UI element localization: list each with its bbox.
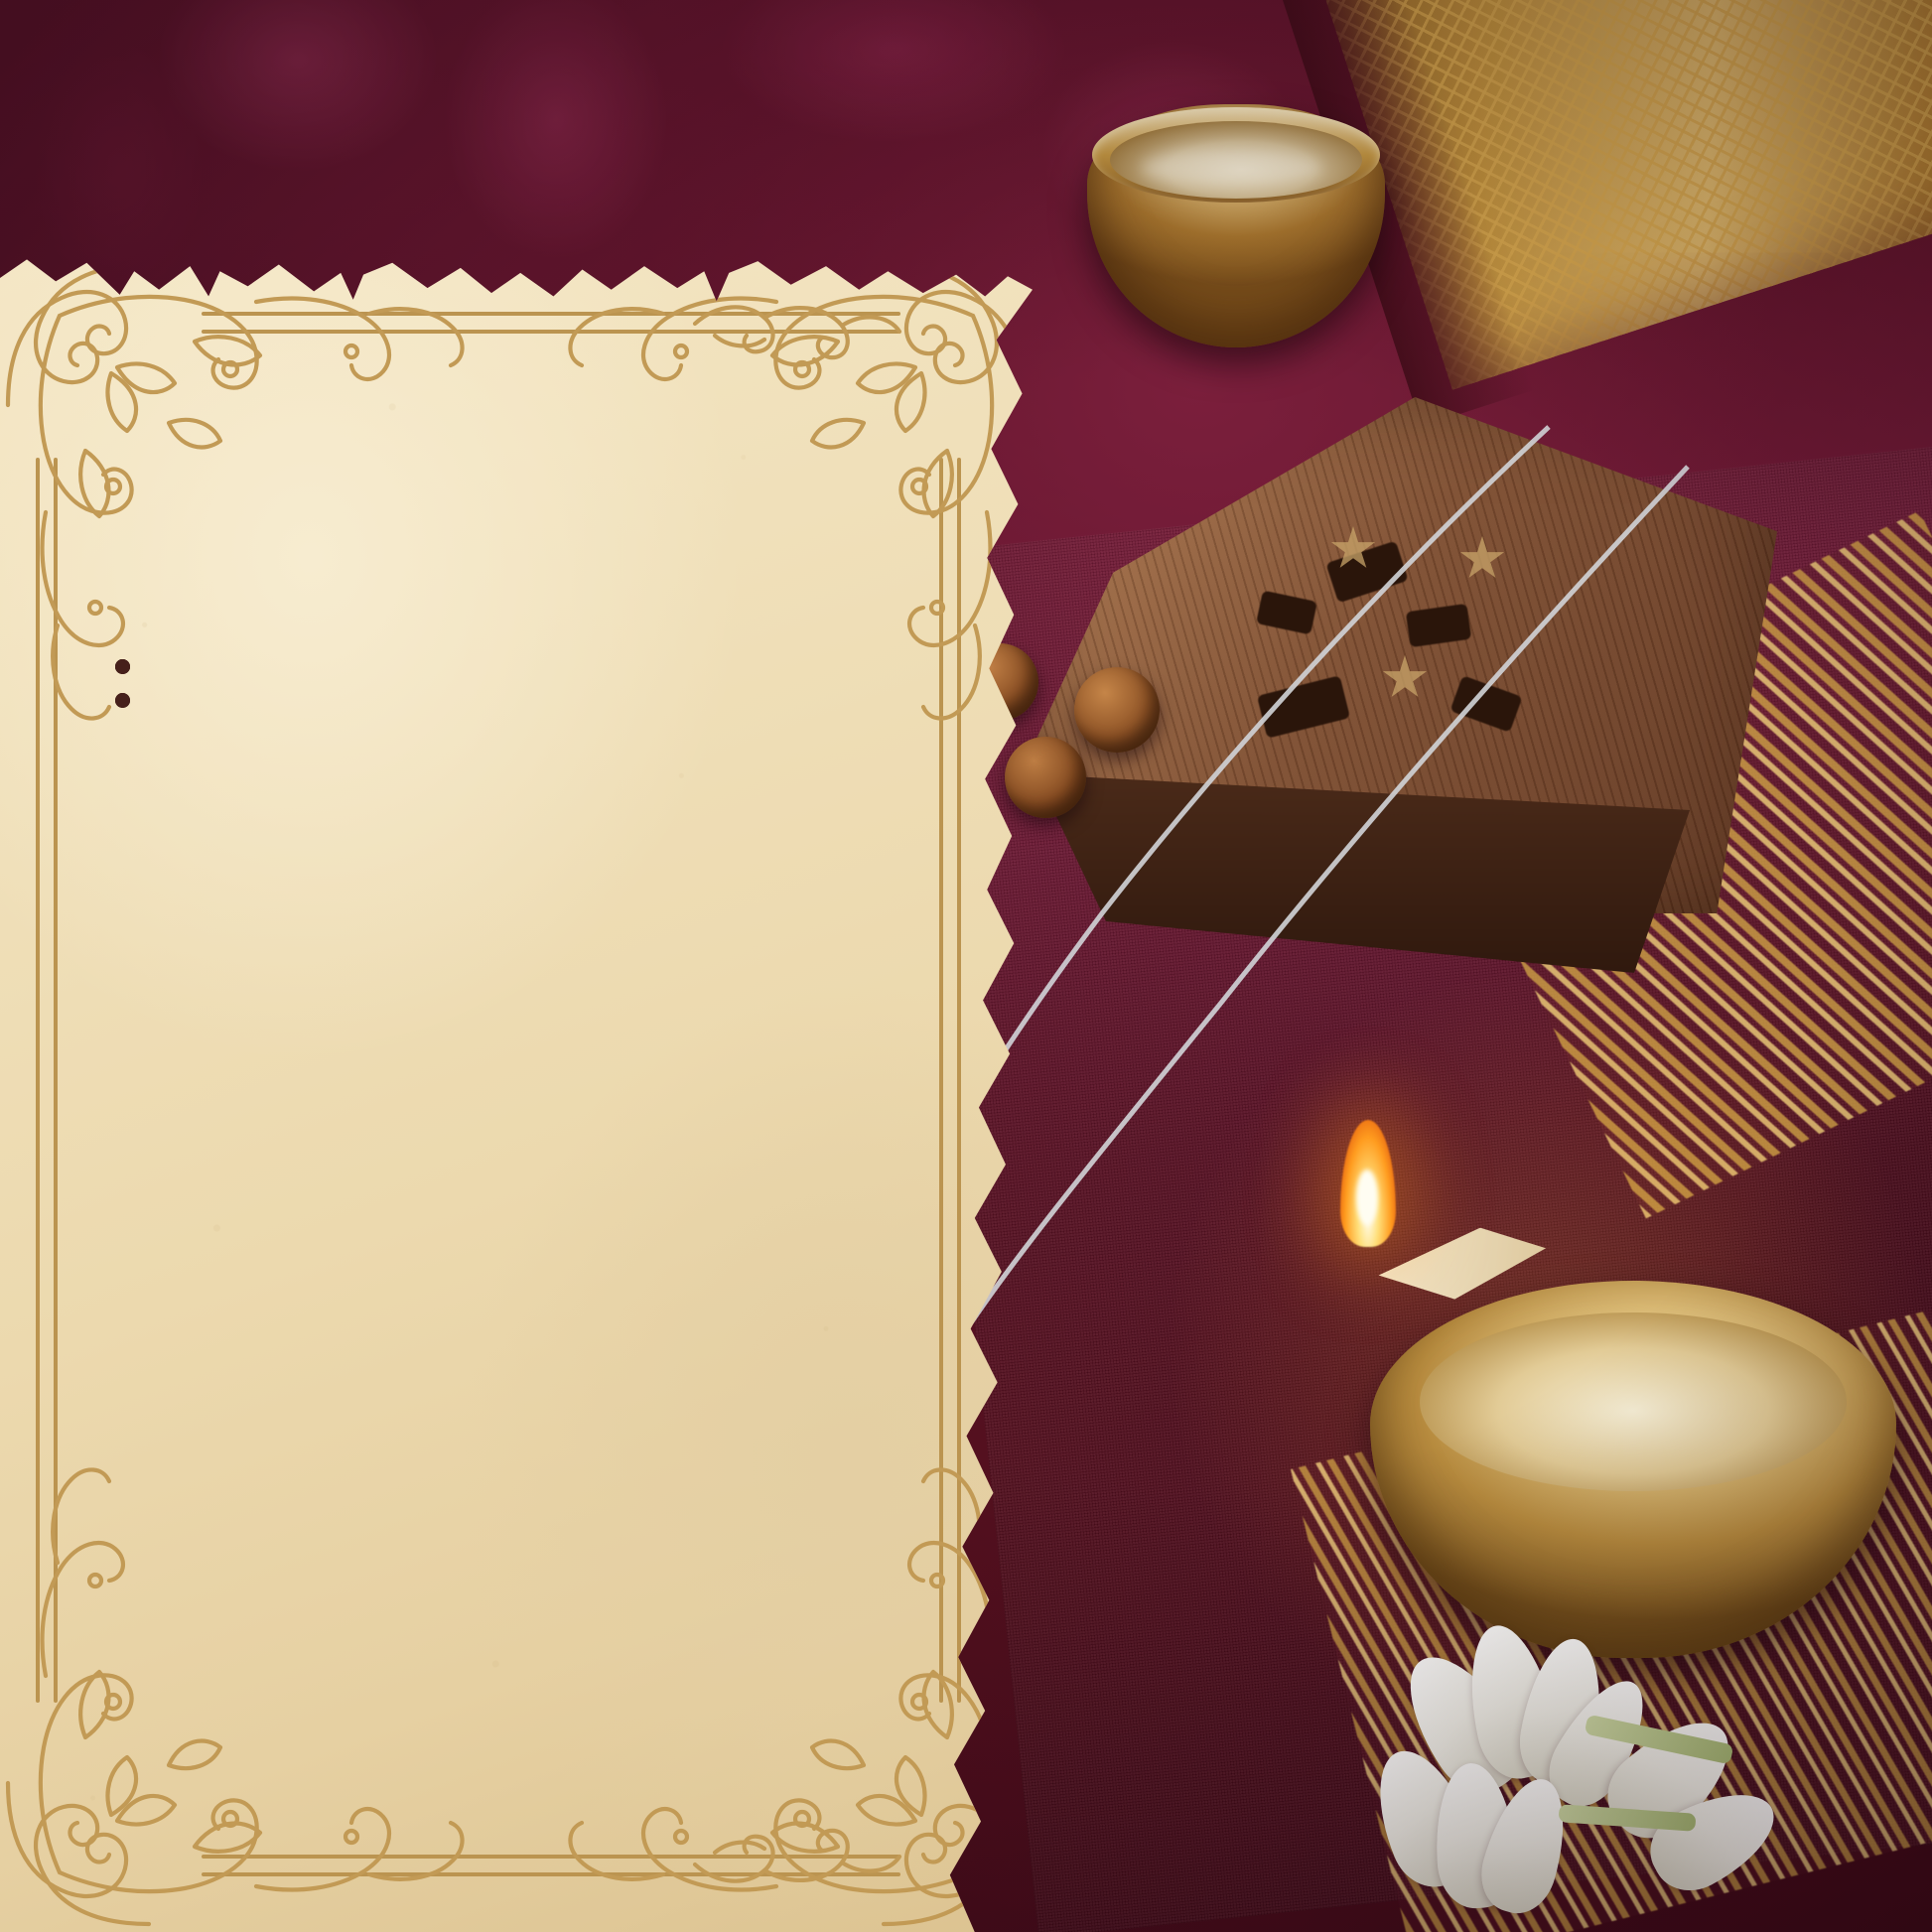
parchment-card bbox=[0, 256, 1033, 1932]
title-banner bbox=[0, 62, 1072, 260]
ornamental-frame bbox=[0, 256, 1033, 1932]
corner-ornaments bbox=[0, 256, 1033, 1932]
care-instructions-content bbox=[107, 584, 901, 669]
paper-texture bbox=[0, 256, 1033, 1932]
